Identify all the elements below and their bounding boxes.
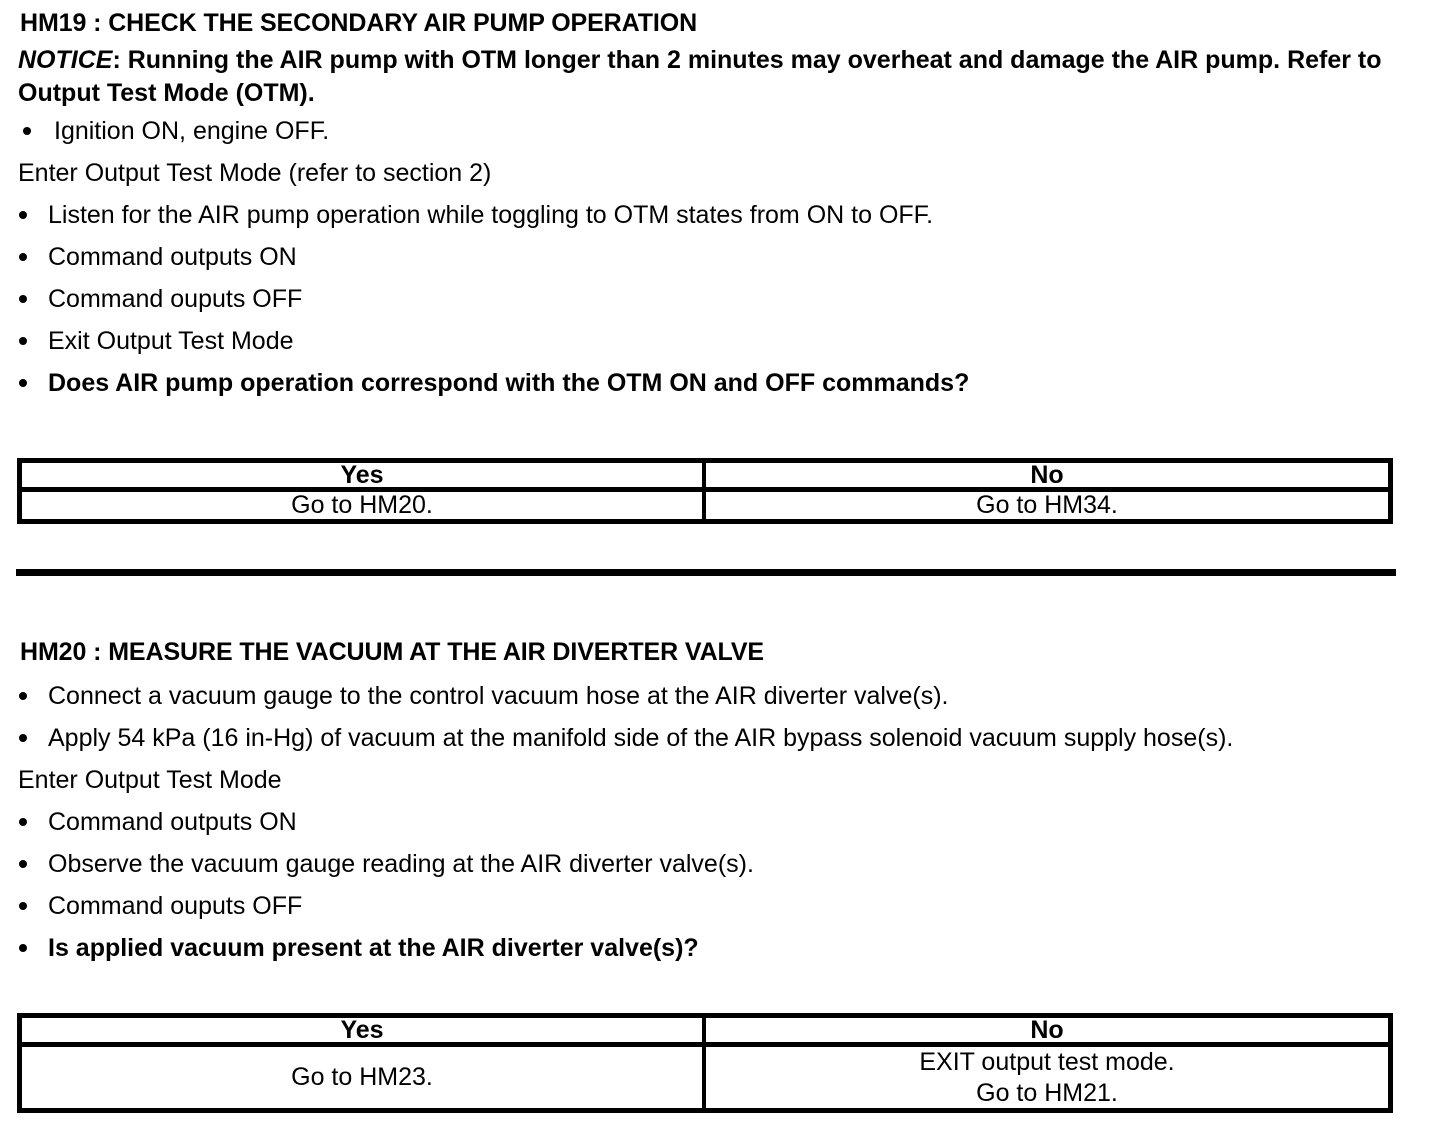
list-item: Command ouputs OFF [0, 885, 1440, 927]
section-hm20: HM20 : MEASURE THE VACUUM AT THE AIR DIV… [0, 637, 1440, 969]
table-cell-no-line2: Go to HM21. [919, 1078, 1174, 1109]
list-item: Observe the vacuum gauge reading at the … [0, 843, 1440, 885]
list-item-label: Ignition ON, engine OFF. [54, 117, 329, 145]
bullet-icon [19, 295, 27, 303]
notice-block-hm19: NOTICE: Running the AIR pump with OTM lo… [18, 44, 1440, 110]
plain-step-hm20-enter-otm: Enter Output Test Mode [18, 759, 1440, 801]
bullet-icon [19, 734, 27, 742]
table-cell-no-line1: EXIT output test mode. [919, 1047, 1174, 1078]
list-item: Command outputs ON [0, 801, 1440, 843]
table-cell-yes-action: Go to HM20. [22, 492, 706, 519]
list-item: Apply 54 kPa (16 in-Hg) of vacuum at the… [0, 717, 1440, 759]
document-page: HM19 : CHECK THE SECONDARY AIR PUMP OPER… [0, 0, 1440, 1134]
list-item: Ignition ON, engine OFF. [0, 110, 1440, 152]
page-title-hm20: HM20 : MEASURE THE VACUUM AT THE AIR DIV… [20, 637, 1440, 667]
list-item-label: Does AIR pump operation correspond with … [48, 369, 969, 397]
step-list-hm20-cont: Command outputs ON Observe the vacuum ga… [0, 801, 1440, 969]
list-item: Listen for the AIR pump operation while … [0, 194, 1440, 236]
bullet-icon [19, 337, 27, 345]
table-cell-no-action: Go to HM34. [706, 492, 1388, 519]
table-cell-yes-action: Go to HM23. [22, 1047, 706, 1108]
bullet-icon [23, 127, 31, 135]
table-header-row: Yes No [22, 1018, 1388, 1047]
list-item-label: Listen for the AIR pump operation while … [48, 201, 933, 229]
list-item-label: Command ouputs OFF [48, 892, 302, 920]
list-item: Command outputs ON [0, 236, 1440, 278]
bullet-icon [19, 944, 27, 952]
plain-step-hm19-enter-otm: Enter Output Test Mode (refer to section… [18, 152, 1440, 194]
list-item-label: Connect a vacuum gauge to the control va… [48, 682, 948, 710]
table-header-yes: Yes [22, 1018, 706, 1042]
list-item-label: Command ouputs OFF [48, 285, 302, 313]
bullet-icon [19, 379, 27, 387]
list-item-label: Exit Output Test Mode [48, 327, 294, 355]
bullet-icon [19, 818, 27, 826]
section-hm19: HM19 : CHECK THE SECONDARY AIR PUMP OPER… [0, 8, 1440, 404]
decision-table-hm20: Yes No Go to HM23. EXIT output test mode… [17, 1013, 1393, 1113]
list-item-label: Command outputs ON [48, 243, 297, 271]
step-list-hm19-cont: Listen for the AIR pump operation while … [0, 194, 1440, 404]
bullet-icon [19, 211, 27, 219]
table-cell-no-action: EXIT output test mode. Go to HM21. [706, 1047, 1388, 1108]
list-item-question: Does AIR pump operation correspond with … [0, 362, 1440, 404]
list-item-label: Observe the vacuum gauge reading at the … [48, 850, 754, 878]
table-header-no: No [706, 463, 1388, 487]
list-item: Connect a vacuum gauge to the control va… [0, 675, 1440, 717]
table-row: Go to HM23. EXIT output test mode. Go to… [22, 1047, 1388, 1108]
decision-table-hm19: Yes No Go to HM20. Go to HM34. [17, 458, 1393, 524]
list-item-label: Is applied vacuum present at the AIR div… [48, 934, 699, 962]
table-header-row: Yes No [22, 463, 1388, 492]
bullet-icon [19, 860, 27, 868]
bullet-icon [19, 692, 27, 700]
bullet-icon [19, 253, 27, 261]
table-row: Go to HM20. Go to HM34. [22, 492, 1388, 519]
bullet-icon [19, 902, 27, 910]
list-item: Command ouputs OFF [0, 278, 1440, 320]
step-list-hm19: Ignition ON, engine OFF. [0, 110, 1440, 152]
table-header-yes: Yes [22, 463, 706, 487]
list-item-label: Command outputs ON [48, 808, 297, 836]
notice-label: NOTICE [18, 46, 112, 74]
section-divider [16, 569, 1396, 576]
page-title-hm19: HM19 : CHECK THE SECONDARY AIR PUMP OPER… [20, 8, 1440, 38]
list-item-label: Apply 54 kPa (16 in-Hg) of vacuum at the… [48, 724, 1233, 752]
table-header-no: No [706, 1018, 1388, 1042]
notice-text: : Running the AIR pump with OTM longer t… [18, 46, 1382, 107]
list-item: Exit Output Test Mode [0, 320, 1440, 362]
step-list-hm20: Connect a vacuum gauge to the control va… [0, 675, 1440, 759]
list-item-question: Is applied vacuum present at the AIR div… [0, 927, 1440, 969]
